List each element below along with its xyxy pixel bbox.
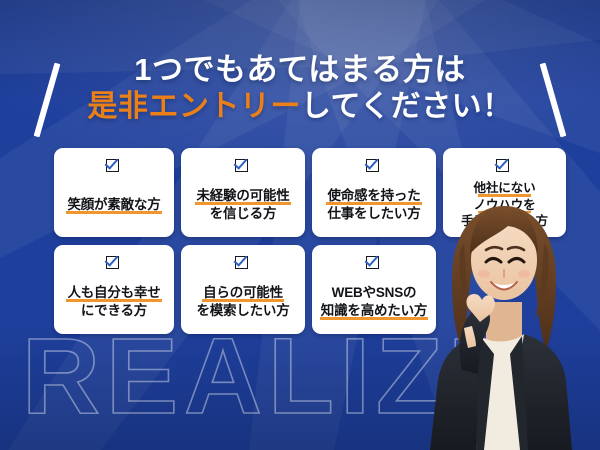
checkbox-checked-icon <box>235 254 252 271</box>
checklist-card-line: 自らの可能性 <box>203 284 283 302</box>
checklist-card[interactable]: WEBやSNSの知識を高めたい方 <box>312 245 436 334</box>
checklist-card[interactable]: 自らの可能性を模索したい方 <box>181 245 305 334</box>
recruitment-banner: REALIZE 1つでもあてはまる方は 是非エントリーしてください！ 笑顔が素敵… <box>0 0 600 450</box>
checklist-card-text: 自らの可能性を模索したい方 <box>181 274 305 334</box>
checklist-card-line: 他社にない <box>474 180 536 197</box>
checklist-row: 笑顔が素敵な方未経験の可能性を信じる方使命感を持った仕事をしたい方他社にないノウ… <box>54 148 566 237</box>
checklist-row: 人も自分も幸せにできる方自らの可能性を模索したい方WEBやSNSの知識を高めたい… <box>54 245 566 334</box>
checklist-card[interactable]: 笑顔が素敵な方 <box>54 148 174 237</box>
checklist-card-line: 手に入れたい方 <box>461 213 548 230</box>
checkbox-checked-icon <box>366 157 383 174</box>
checklist-card-line: 知識を高めたい方 <box>321 302 427 320</box>
checklist-card-text: 未経験の可能性を信じる方 <box>181 177 305 237</box>
checklist-card-text: 笑顔が素敵な方 <box>54 177 174 237</box>
checklist-card-line: 未経験の可能性 <box>196 187 289 205</box>
checklist-card-line: を模索したい方 <box>196 302 289 320</box>
checklist-card-line: 使命感を持った <box>327 187 420 205</box>
checklist-card-line: を信じる方 <box>210 205 277 223</box>
checklist-card-line: WEBやSNSの <box>332 284 417 302</box>
checklist-card[interactable]: 未経験の可能性を信じる方 <box>181 148 305 237</box>
checkbox-checked-icon <box>235 157 252 174</box>
headline-line-2: 是非エントリーしてください！ <box>0 89 600 124</box>
checklist-card[interactable]: 他社にないノウハウを手に入れたい方 <box>443 148 566 237</box>
checklist-grid: 笑顔が素敵な方未経験の可能性を信じる方使命感を持った仕事をしたい方他社にないノウ… <box>54 148 566 342</box>
checklist-card-line: 仕事をしたい方 <box>327 205 420 223</box>
checklist-card-text: 使命感を持った仕事をしたい方 <box>312 177 436 237</box>
headline: 1つでもあてはまる方は 是非エントリーしてください！ <box>0 52 600 124</box>
checklist-card-line: ノウハウを <box>474 197 536 214</box>
headline-line-1: 1つでもあてはまる方は <box>0 52 600 89</box>
checklist-card-line: にできる方 <box>81 302 147 320</box>
checklist-card-text: 人も自分も幸せにできる方 <box>54 274 174 334</box>
checklist-card-text: WEBやSNSの知識を高めたい方 <box>312 274 436 334</box>
headline-highlight: 是非エントリー <box>87 90 301 123</box>
headline-rest: してください！ <box>301 90 513 123</box>
checkbox-checked-icon <box>106 157 123 174</box>
checkbox-checked-icon <box>106 254 123 271</box>
checklist-card-text: 他社にないノウハウを手に入れたい方 <box>443 177 566 237</box>
checkbox-checked-icon <box>496 157 513 174</box>
checkbox-checked-icon <box>366 254 383 271</box>
checklist-card[interactable]: 使命感を持った仕事をしたい方 <box>312 148 436 237</box>
checklist-card-line: 人も自分も幸せ <box>67 284 160 302</box>
checklist-card[interactable]: 人も自分も幸せにできる方 <box>54 245 174 334</box>
checklist-card-line: 笑顔が素敵な方 <box>67 196 160 214</box>
